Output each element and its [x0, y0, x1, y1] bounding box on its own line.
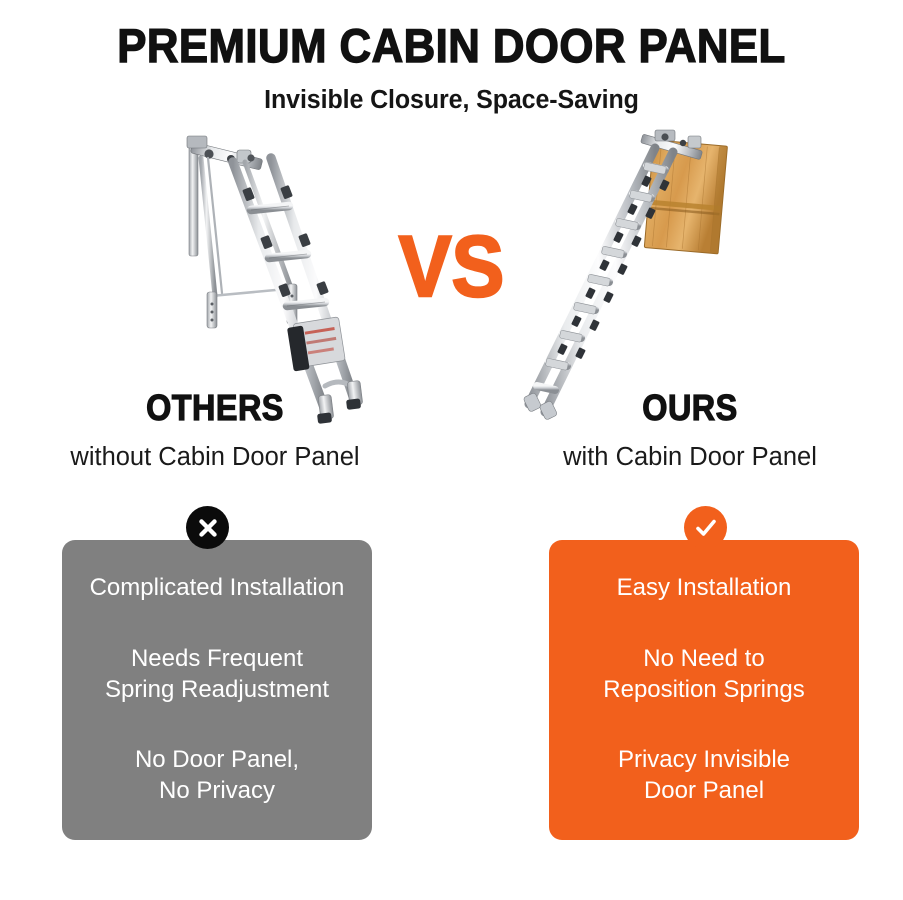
header: PREMIUM CABIN DOOR PANEL Invisible Closu… — [0, 0, 903, 114]
cross-icon — [196, 516, 220, 540]
column-subtitle-ours: with Cabin Door Panel — [480, 445, 900, 471]
panel-point-others-2: Needs Frequent Spring Readjustment — [105, 644, 329, 705]
column-subtitle-others: without Cabin Door Panel — [5, 445, 425, 471]
cross-badge — [186, 506, 229, 549]
comparison-panel-ours: Easy Installation No Need to Reposition … — [549, 540, 859, 840]
versus-label: VS — [36, 224, 867, 310]
column-title-others: OTHERS — [26, 390, 404, 426]
page-title: PREMIUM CABIN DOOR PANEL — [32, 22, 872, 69]
panel-point-ours-2: No Need to Reposition Springs — [603, 644, 804, 705]
page-subtitle: Invisible Closure, Space-Saving — [9, 88, 894, 114]
comparison-panel-others: Complicated Installation Needs Frequent … — [62, 540, 372, 840]
column-heading-others: OTHERS without Cabin Door Panel — [5, 390, 425, 471]
panel-point-others-1: Complicated Installation — [90, 573, 345, 604]
column-title-ours: OURS — [501, 390, 879, 426]
panel-point-others-3: No Door Panel, No Privacy — [135, 745, 299, 806]
panel-point-ours-1: Easy Installation — [617, 573, 792, 604]
column-heading-ours: OURS with Cabin Door Panel — [480, 390, 900, 471]
check-badge — [684, 506, 727, 549]
panel-point-ours-3: Privacy Invisible Door Panel — [618, 745, 790, 806]
check-icon — [693, 515, 719, 541]
product-comparison-images: VS — [0, 128, 903, 428]
